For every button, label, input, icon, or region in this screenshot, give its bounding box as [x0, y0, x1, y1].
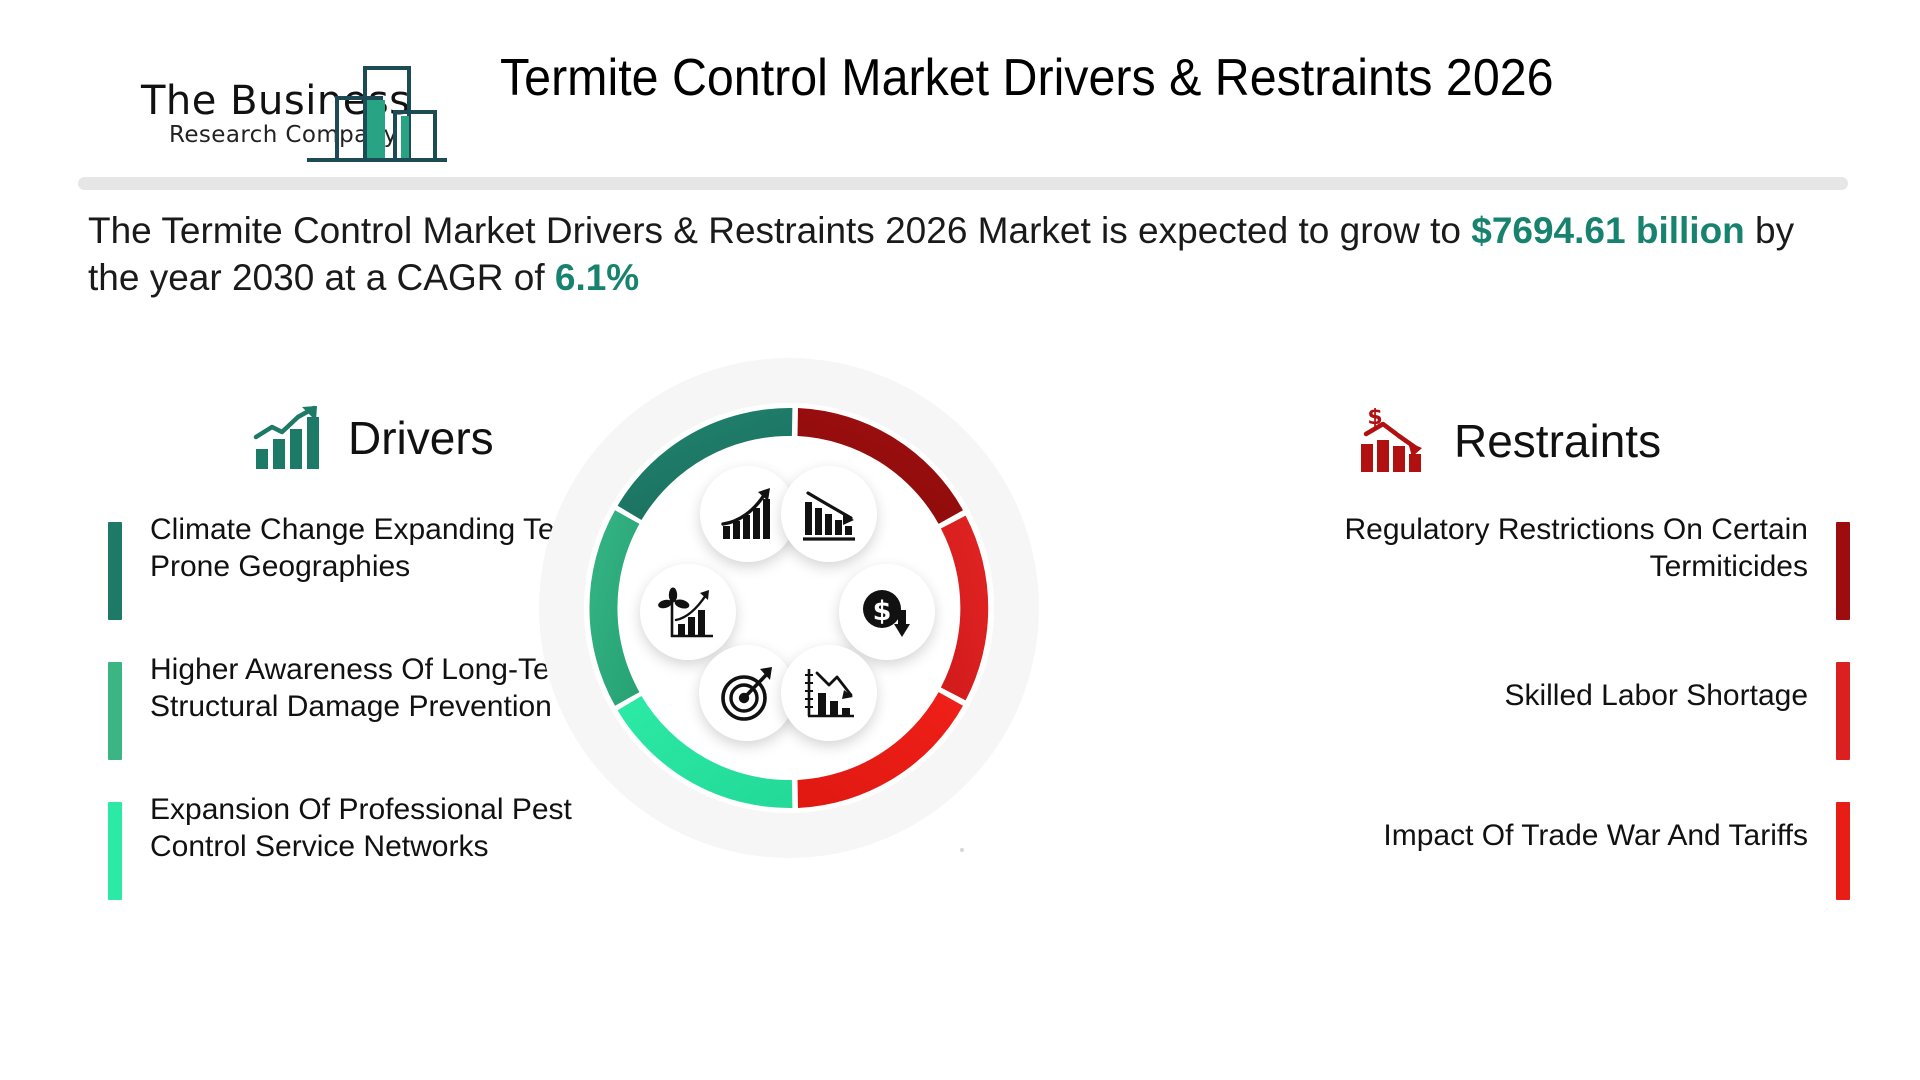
restraint-item-2: Skilled Labor Shortage	[1290, 652, 1850, 792]
driver-accent-bar-3	[108, 802, 122, 900]
drivers-heading: Drivers	[348, 411, 494, 465]
footer-dot	[960, 848, 964, 852]
restraint-label-1: Regulatory Restrictions On Certain Termi…	[1308, 512, 1808, 585]
header-divider	[78, 177, 1848, 190]
restraints-list: Regulatory Restrictions On Certain Termi…	[1290, 512, 1850, 932]
badge-falling-line	[781, 645, 877, 741]
restraints-header: $ Restraints	[1358, 408, 1661, 474]
driver-accent-bar-2	[108, 662, 122, 760]
restraint-accent-bar-2	[1836, 662, 1850, 760]
badge-plant-growth	[640, 564, 736, 660]
page-header: The Business Research Company Termite Co…	[0, 0, 1920, 185]
restraint-accent-bar-3	[1836, 802, 1850, 900]
drivers-restraints-wheel: $	[539, 358, 1039, 858]
wheel-segment-restraint-middle	[941, 516, 988, 701]
growth-curve-bars-icon	[718, 484, 778, 544]
restraint-label-3: Impact Of Trade War And Tariffs	[1308, 818, 1808, 855]
plant-growth-bars-icon	[658, 582, 718, 642]
target-arrow-icon	[717, 663, 777, 723]
falling-bar-chart-dollar-icon: $	[1358, 408, 1430, 474]
restraints-heading: Restraints	[1454, 414, 1661, 468]
page-title: Termite Control Market Drivers & Restrai…	[500, 48, 1690, 108]
declining-bars-arrow-icon	[799, 484, 859, 544]
badge-dollar-down: $	[839, 564, 935, 660]
restraint-item-1: Regulatory Restrictions On Certain Termi…	[1290, 512, 1850, 652]
market-summary: The Termite Control Market Drivers & Res…	[88, 208, 1848, 301]
restraint-label-2: Skilled Labor Shortage	[1308, 678, 1808, 715]
restraint-item-3: Impact Of Trade War And Tariffs	[1290, 792, 1850, 932]
company-logo: The Business Research Company	[135, 52, 445, 167]
bar-chart-logo-icon	[307, 56, 447, 166]
svg-text:$: $	[873, 596, 892, 627]
drivers-header: Drivers	[252, 405, 494, 471]
driver-accent-bar-1	[108, 522, 122, 620]
dollar-down-arrow-icon: $	[857, 582, 917, 642]
rising-bar-chart-arrow-icon	[252, 405, 324, 471]
summary-part-1: The Termite Control Market Drivers & Res…	[88, 210, 1471, 251]
badge-declining-bars	[781, 466, 877, 562]
restraint-accent-bar-1	[1836, 522, 1850, 620]
wheel-segment-driver-middle	[589, 510, 639, 706]
market-value: $7694.61 billion	[1471, 210, 1745, 251]
falling-line-bars-icon	[799, 663, 859, 723]
svg-text:$: $	[1367, 408, 1382, 430]
cagr-value: 6.1%	[555, 257, 639, 298]
